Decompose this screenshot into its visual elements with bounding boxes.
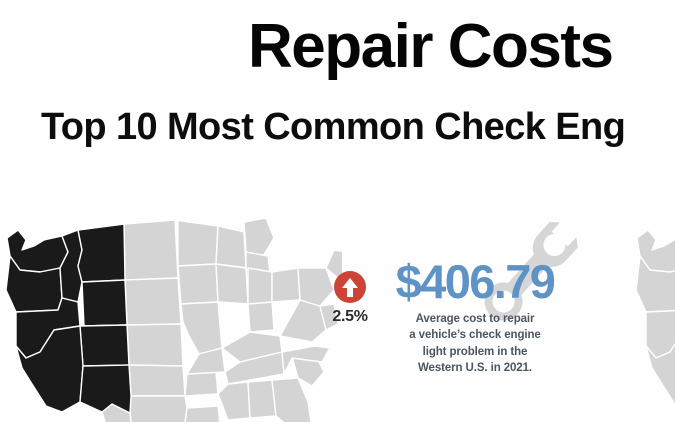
caption-line-3: light problem in the	[386, 344, 564, 360]
us-map-plain	[612, 206, 675, 422]
caption-line-2: a vehicle’s check engine	[386, 327, 564, 343]
page-subtitle: Top 10 Most Common Check Eng	[41, 106, 625, 150]
page-title: Repair Costs	[248, 14, 612, 79]
caption-line-1: Average cost to repair	[386, 311, 564, 327]
trend-indicator: 2.5%	[322, 270, 378, 326]
caption-line-4: Western U.S. in 2021.	[386, 360, 564, 376]
trend-percent: 2.5%	[322, 308, 378, 326]
average-cost-value: $406.79	[386, 258, 564, 305]
arrow-up-circle-icon	[333, 270, 367, 304]
average-cost-caption: Average cost to repair a vehicle’s check…	[386, 311, 564, 376]
stat-block: $406.79 Average cost to repair a vehicle…	[386, 258, 564, 376]
us-map-western-highlighted	[0, 206, 342, 422]
infographic-canvas: Repair Costs Top 10 Most Common Check En…	[0, 0, 675, 422]
